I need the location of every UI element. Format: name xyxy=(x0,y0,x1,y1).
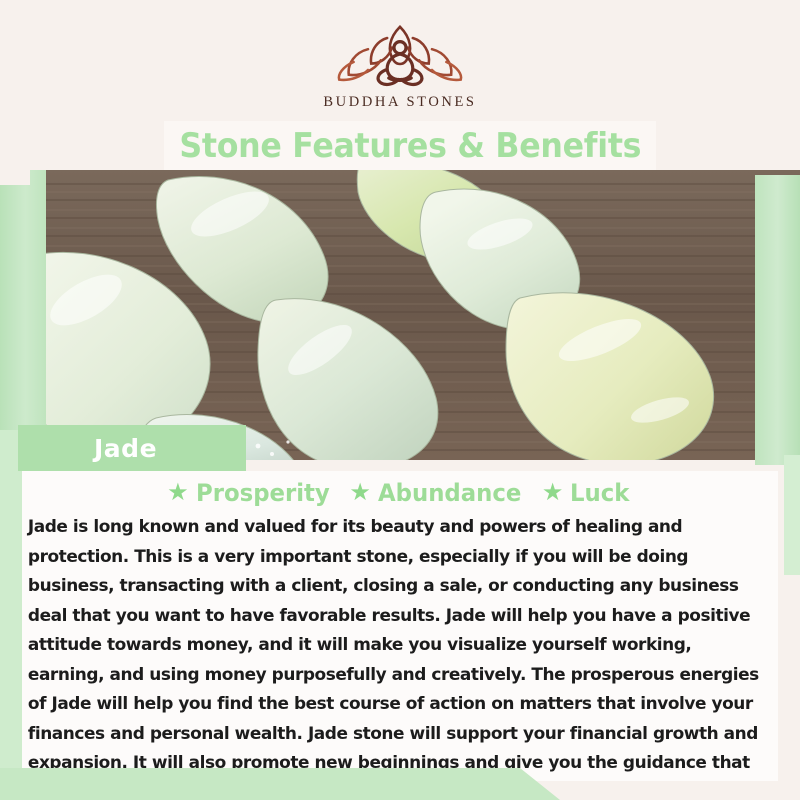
brand-logo: BUDDHA STONES xyxy=(323,22,476,111)
decor-green-left-band xyxy=(0,170,46,460)
decor-green-right-band xyxy=(755,175,800,465)
stone-name: Jade xyxy=(94,434,157,463)
title-banner: Stone Features & Benefits xyxy=(164,121,656,170)
star-icon: ★ xyxy=(349,481,371,505)
page-title: Stone Features & Benefits xyxy=(179,126,641,166)
description-text: Jade is long known and valued for its be… xyxy=(22,513,767,800)
stone-photo xyxy=(0,170,800,460)
lotus-meditation-icon xyxy=(336,22,464,88)
benefit-label: Prosperity xyxy=(196,479,330,507)
benefit-item: ★ Prosperity xyxy=(167,479,336,507)
decor-green-right-lower xyxy=(784,455,800,575)
benefit-item: ★ Abundance xyxy=(349,479,528,507)
benefit-item: ★ Luck xyxy=(542,479,633,507)
brand-name: BUDDHA STONES xyxy=(323,94,476,111)
benefits-list: ★ Prosperity ★ Abundance ★ Luck xyxy=(22,471,778,507)
infographic-page: BUDDHA STONES Stone Features & Benefits xyxy=(0,0,800,800)
benefit-label: Luck xyxy=(570,479,629,507)
decor-notch-top-left xyxy=(0,155,30,185)
content-panel: ★ Prosperity ★ Abundance ★ Luck Jade is … xyxy=(22,471,778,781)
benefit-label: Abundance xyxy=(378,479,521,507)
decor-green-bottom-bar xyxy=(0,768,560,800)
stone-name-banner: Jade xyxy=(18,425,246,471)
star-icon: ★ xyxy=(542,481,564,505)
star-icon: ★ xyxy=(167,481,189,505)
